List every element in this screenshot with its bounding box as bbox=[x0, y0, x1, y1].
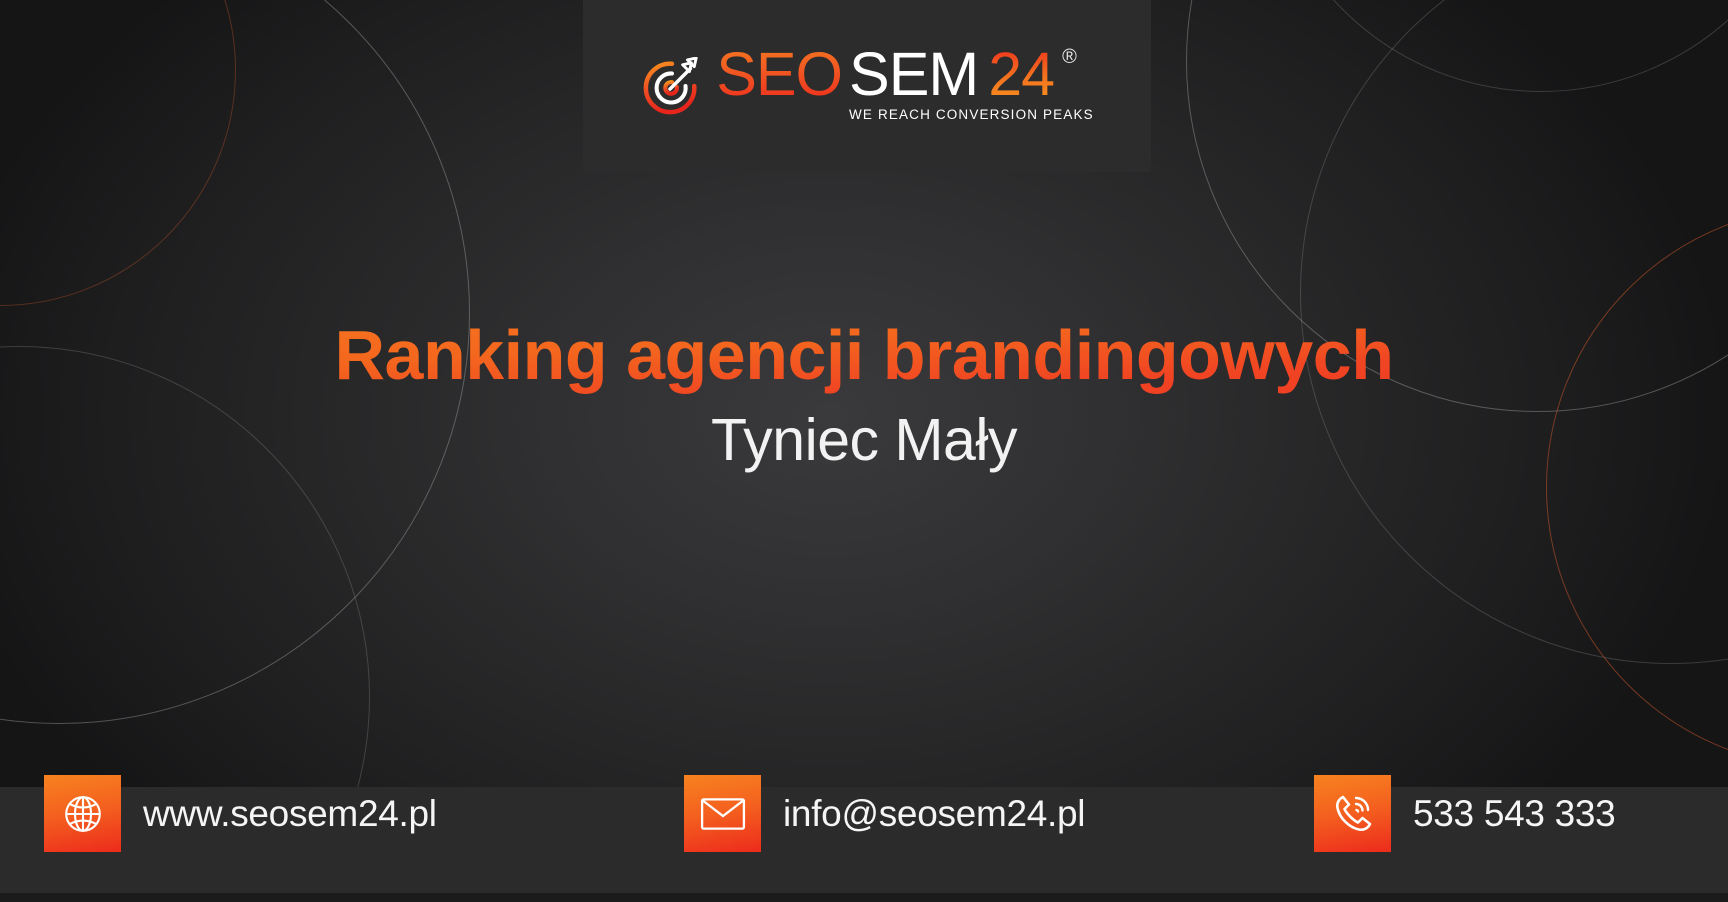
page-title: Ranking agencji brandingowych bbox=[0, 316, 1728, 394]
website-label: www.seosem24.pl bbox=[143, 793, 437, 835]
contact-phone[interactable]: 533 543 333 bbox=[1314, 775, 1615, 852]
decorative-circle-gray-topright bbox=[1260, 0, 1728, 92]
logo-word-seo: SEO bbox=[716, 43, 842, 105]
phone-label: 533 543 333 bbox=[1413, 793, 1615, 835]
brand-logo: SEO SEM 24 ® WE REACH CONVERSION PEAKS bbox=[640, 43, 1094, 122]
decorative-circle-orange-topleft bbox=[0, 0, 236, 306]
logo-plate: SEO SEM 24 ® WE REACH CONVERSION PEAKS bbox=[583, 0, 1151, 172]
registered-trademark-icon: ® bbox=[1062, 47, 1077, 67]
footer-bottom-strip bbox=[0, 893, 1728, 902]
globe-icon bbox=[44, 775, 121, 852]
logo-right-top: SEM 24 ® bbox=[849, 43, 1094, 105]
logo-tagline: WE REACH CONVERSION PEAKS bbox=[849, 107, 1094, 122]
logo-word-sem: SEM bbox=[849, 43, 978, 105]
contact-email[interactable]: info@seosem24.pl bbox=[684, 775, 1085, 852]
headline-block: Ranking agencji brandingowych Tyniec Mał… bbox=[0, 316, 1728, 473]
logo-right-group: SEM 24 ® WE REACH CONVERSION PEAKS bbox=[849, 43, 1094, 122]
logo-wordmark: SEO SEM 24 ® WE REACH CONVERSION PEAKS bbox=[716, 43, 1094, 122]
email-label: info@seosem24.pl bbox=[783, 793, 1085, 835]
logo-word-24: 24 bbox=[988, 43, 1054, 105]
page-subtitle: Tyniec Mały bbox=[0, 408, 1728, 473]
target-arrow-icon bbox=[640, 57, 702, 119]
phone-icon bbox=[1314, 775, 1391, 852]
envelope-icon bbox=[684, 775, 761, 852]
decorative-circle-orange-right bbox=[1546, 206, 1728, 768]
contact-website[interactable]: www.seosem24.pl bbox=[44, 775, 437, 852]
presentation-slide: SEO SEM 24 ® WE REACH CONVERSION PEAKS R… bbox=[0, 0, 1728, 902]
